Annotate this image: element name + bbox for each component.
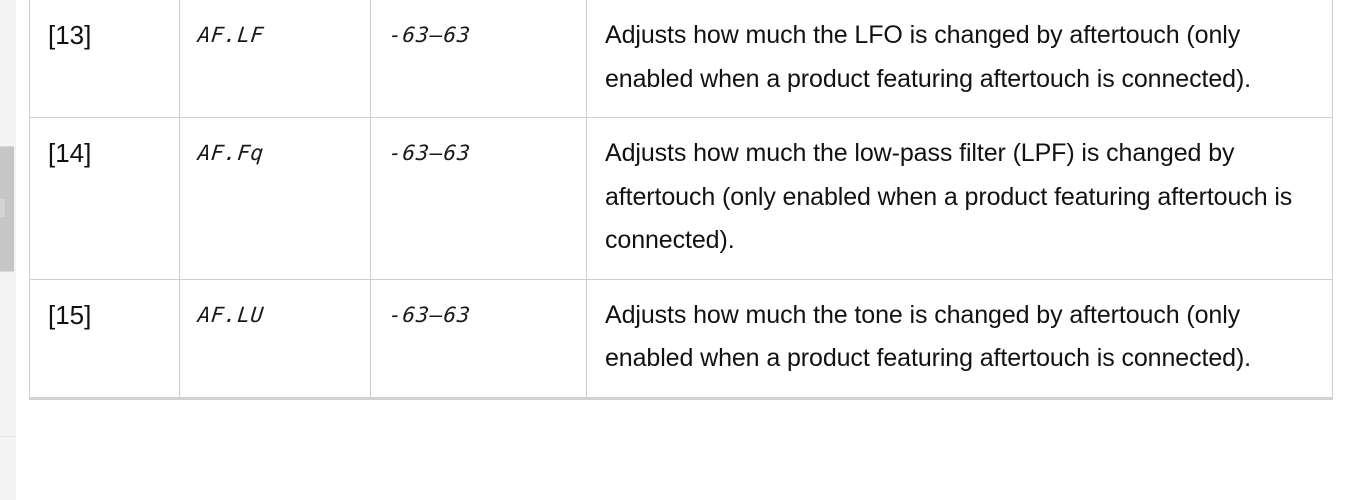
parameter-index: [15]	[48, 300, 91, 330]
cell-display-name: AF.LF	[180, 0, 371, 118]
parameter-table: [13] AF.LF -63–63 Adjusts how much the L…	[29, 0, 1333, 400]
page-left-margin	[16, 0, 29, 500]
scroll-track-segment	[0, 0, 16, 149]
cell-display-name: AF.Fq	[180, 118, 371, 280]
page-root: [13] AF.LF -63–63 Adjusts how much the L…	[0, 0, 1372, 500]
parameter-description: Adjusts how much the LFO is changed by a…	[605, 21, 1251, 93]
cell-description: Adjusts how much the low-pass filter (LP…	[587, 118, 1333, 280]
parameter-index: [13]	[48, 20, 91, 50]
cell-value-range: -63–63	[371, 279, 587, 398]
lcd-value-range: -63–63	[387, 14, 473, 56]
cell-value-range: -63–63	[371, 0, 587, 118]
cell-index: [13]	[30, 0, 180, 118]
cell-description: Adjusts how much the tone is changed by …	[587, 279, 1333, 398]
cell-value-range: -63–63	[371, 118, 587, 280]
lcd-display-name: AF.LU	[196, 294, 266, 336]
lcd-value-range: -63–63	[387, 294, 473, 336]
scroll-track-segment	[0, 269, 16, 357]
cell-index: [14]	[30, 118, 180, 280]
parameter-table-body: [13] AF.LF -63–63 Adjusts how much the L…	[30, 0, 1333, 398]
cell-index: [15]	[30, 279, 180, 398]
parameter-index: [14]	[48, 138, 91, 168]
scroll-track-segment	[0, 437, 16, 500]
scrollbar-thumb[interactable]	[0, 146, 14, 272]
parameter-description: Adjusts how much the low-pass filter (LP…	[605, 139, 1292, 254]
parameter-description: Adjusts how much the tone is changed by …	[605, 301, 1251, 373]
lcd-display-name: AF.LF	[196, 14, 266, 56]
table-row: [13] AF.LF -63–63 Adjusts how much the L…	[30, 0, 1333, 118]
lcd-display-name: AF.Fq	[196, 132, 266, 174]
cell-description: Adjusts how much the LFO is changed by a…	[587, 0, 1333, 118]
scroll-track-segment	[0, 356, 16, 437]
table-row: [14] AF.Fq -63–63 Adjusts how much the l…	[30, 118, 1333, 280]
parameter-table-container: [13] AF.LF -63–63 Adjusts how much the L…	[29, 0, 1332, 400]
cell-display-name: AF.LU	[180, 279, 371, 398]
lcd-value-range: -63–63	[387, 132, 473, 174]
table-row: [15] AF.LU -63–63 Adjusts how much the t…	[30, 279, 1333, 398]
left-scroll-track[interactable]	[0, 0, 17, 500]
